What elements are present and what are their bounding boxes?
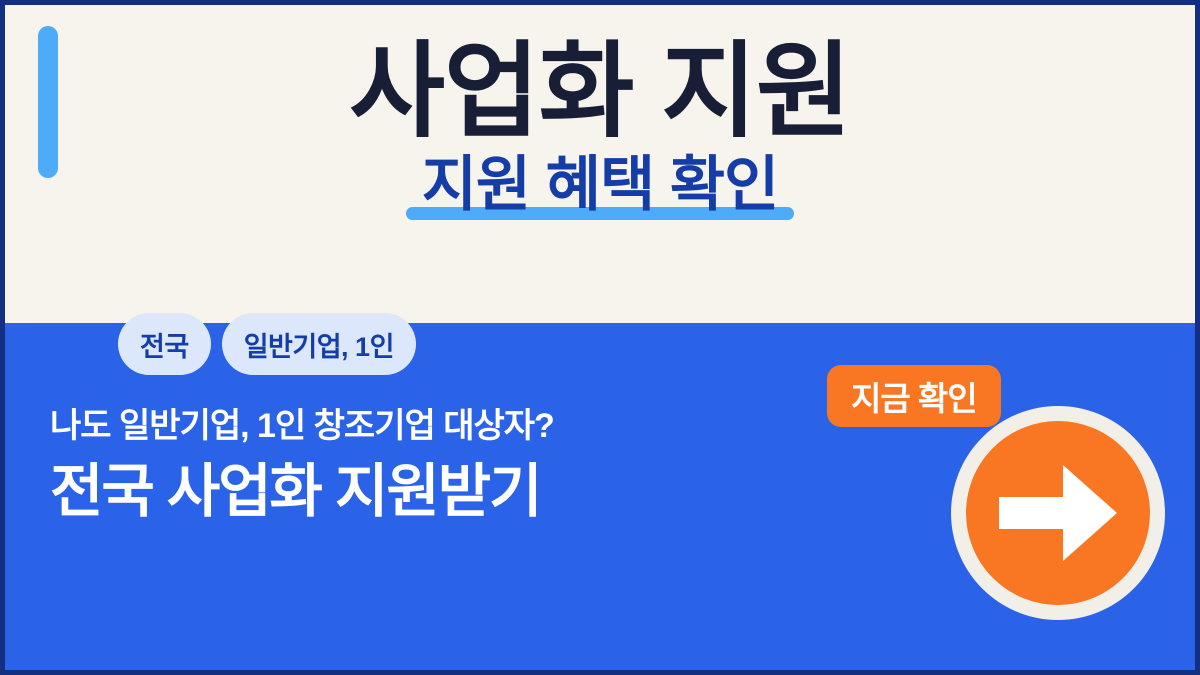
subtitle-wrapper: 지원 혜택 확인 — [422, 153, 779, 216]
page-subtitle: 지원 혜택 확인 — [422, 153, 779, 216]
promo-banner: 사업화 지원 지원 혜택 확인 전국 일반기업, 1인 나도 일반기업, 1인 … — [0, 0, 1200, 675]
title-block: 사업화 지원 지원 혜택 확인 — [5, 5, 1195, 216]
arrow-right-icon — [999, 461, 1117, 565]
promo-copy: 나도 일반기업, 1인 창조기업 대상자? 전국 사업화 지원받기 — [50, 405, 554, 524]
promo-headline: 전국 사업화 지원받기 — [50, 460, 554, 525]
cta-arrow-button[interactable] — [951, 406, 1165, 620]
promo-kicker: 나도 일반기업, 1인 창조기업 대상자? — [50, 405, 554, 448]
cta-label-button[interactable]: 지금 확인 — [827, 365, 1001, 427]
page-title: 사업화 지원 — [5, 39, 1195, 145]
status-badge-target[interactable]: 일반기업, 1인 — [222, 313, 416, 375]
status-badge-region[interactable]: 전국 — [118, 313, 211, 375]
header-panel: 사업화 지원 지원 혜택 확인 — [5, 5, 1195, 323]
badge-row: 전국 일반기업, 1인 — [118, 313, 416, 375]
